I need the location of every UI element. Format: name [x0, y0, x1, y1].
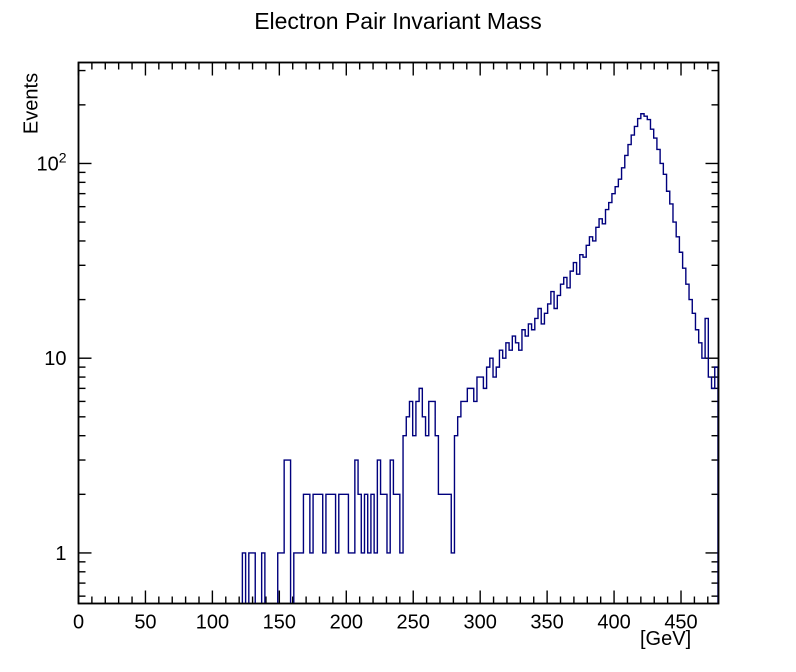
histogram-plot: 050100150200250300350400450 110102: [0, 0, 796, 672]
x-tick-label: 250: [397, 612, 430, 634]
histogram-series: [242, 114, 718, 604]
x-tick-label: 300: [463, 612, 496, 634]
y-tick-label-10: 10: [44, 348, 66, 370]
x-tick-label: 50: [134, 612, 156, 634]
x-axis-tick-labels: 050100150200250300350400450: [73, 612, 698, 634]
y-tick-label-100: 102: [36, 149, 66, 175]
x-axis-ticks: [79, 63, 708, 604]
root-canvas: Electron Pair Invariant Mass Events [GeV…: [0, 0, 796, 672]
x-tick-label: 200: [330, 612, 363, 634]
x-tick-label: 150: [263, 612, 296, 634]
x-tick-label: 350: [530, 612, 563, 634]
y-tick-label-1: 1: [55, 543, 66, 565]
plot-frame: [79, 63, 719, 604]
x-tick-label: 100: [196, 612, 229, 634]
x-tick-label: 450: [664, 612, 697, 634]
y-axis-tick-labels: 110102: [36, 149, 66, 564]
x-tick-label: 400: [597, 612, 630, 634]
histogram-step-line: [242, 114, 718, 604]
plot-frame-overlay: [79, 63, 719, 604]
x-tick-label: 0: [73, 612, 84, 634]
y-axis-ticks: [79, 71, 719, 597]
